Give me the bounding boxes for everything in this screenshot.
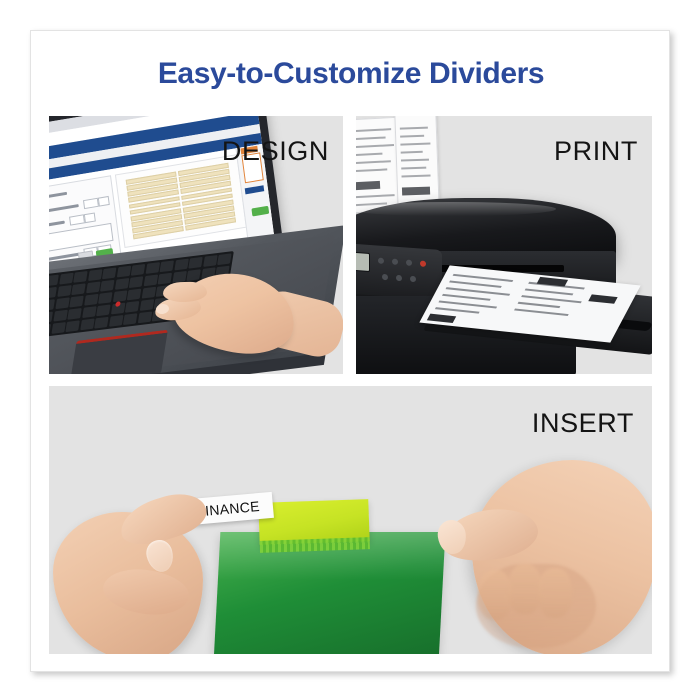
printer-highlight (356, 202, 556, 216)
printer-power-button-icon[interactable] (420, 261, 426, 267)
hand-on-keyboard (153, 268, 329, 366)
printer-button[interactable] (406, 260, 412, 266)
rail-button (245, 185, 265, 194)
panel-label-insert: INSERT (532, 408, 634, 439)
label-grid (126, 163, 236, 240)
printer-lcd-icon (356, 251, 370, 273)
panel-print: PRINT (356, 116, 652, 374)
panel-design: DESIGN (49, 116, 343, 374)
feed-sheet (394, 116, 439, 211)
left-hand (53, 484, 233, 654)
product-feature-card: Easy-to-Customize Dividers (30, 30, 670, 672)
printer-button[interactable] (392, 259, 398, 265)
printer-button[interactable] (382, 274, 388, 280)
panel-insert: FINANCE INSERT (49, 386, 652, 654)
page-title: Easy-to-Customize Dividers (31, 57, 671, 91)
right-hand (432, 444, 652, 654)
printer-control-panel[interactable] (356, 242, 442, 300)
panel-label-print: PRINT (554, 136, 638, 167)
printer-button[interactable] (396, 275, 402, 281)
printer-button[interactable] (410, 276, 416, 282)
printer-button[interactable] (378, 258, 384, 264)
divider-tab (258, 499, 369, 545)
label-sheet-preview (115, 154, 247, 248)
panel-label-design: DESIGN (222, 136, 329, 167)
